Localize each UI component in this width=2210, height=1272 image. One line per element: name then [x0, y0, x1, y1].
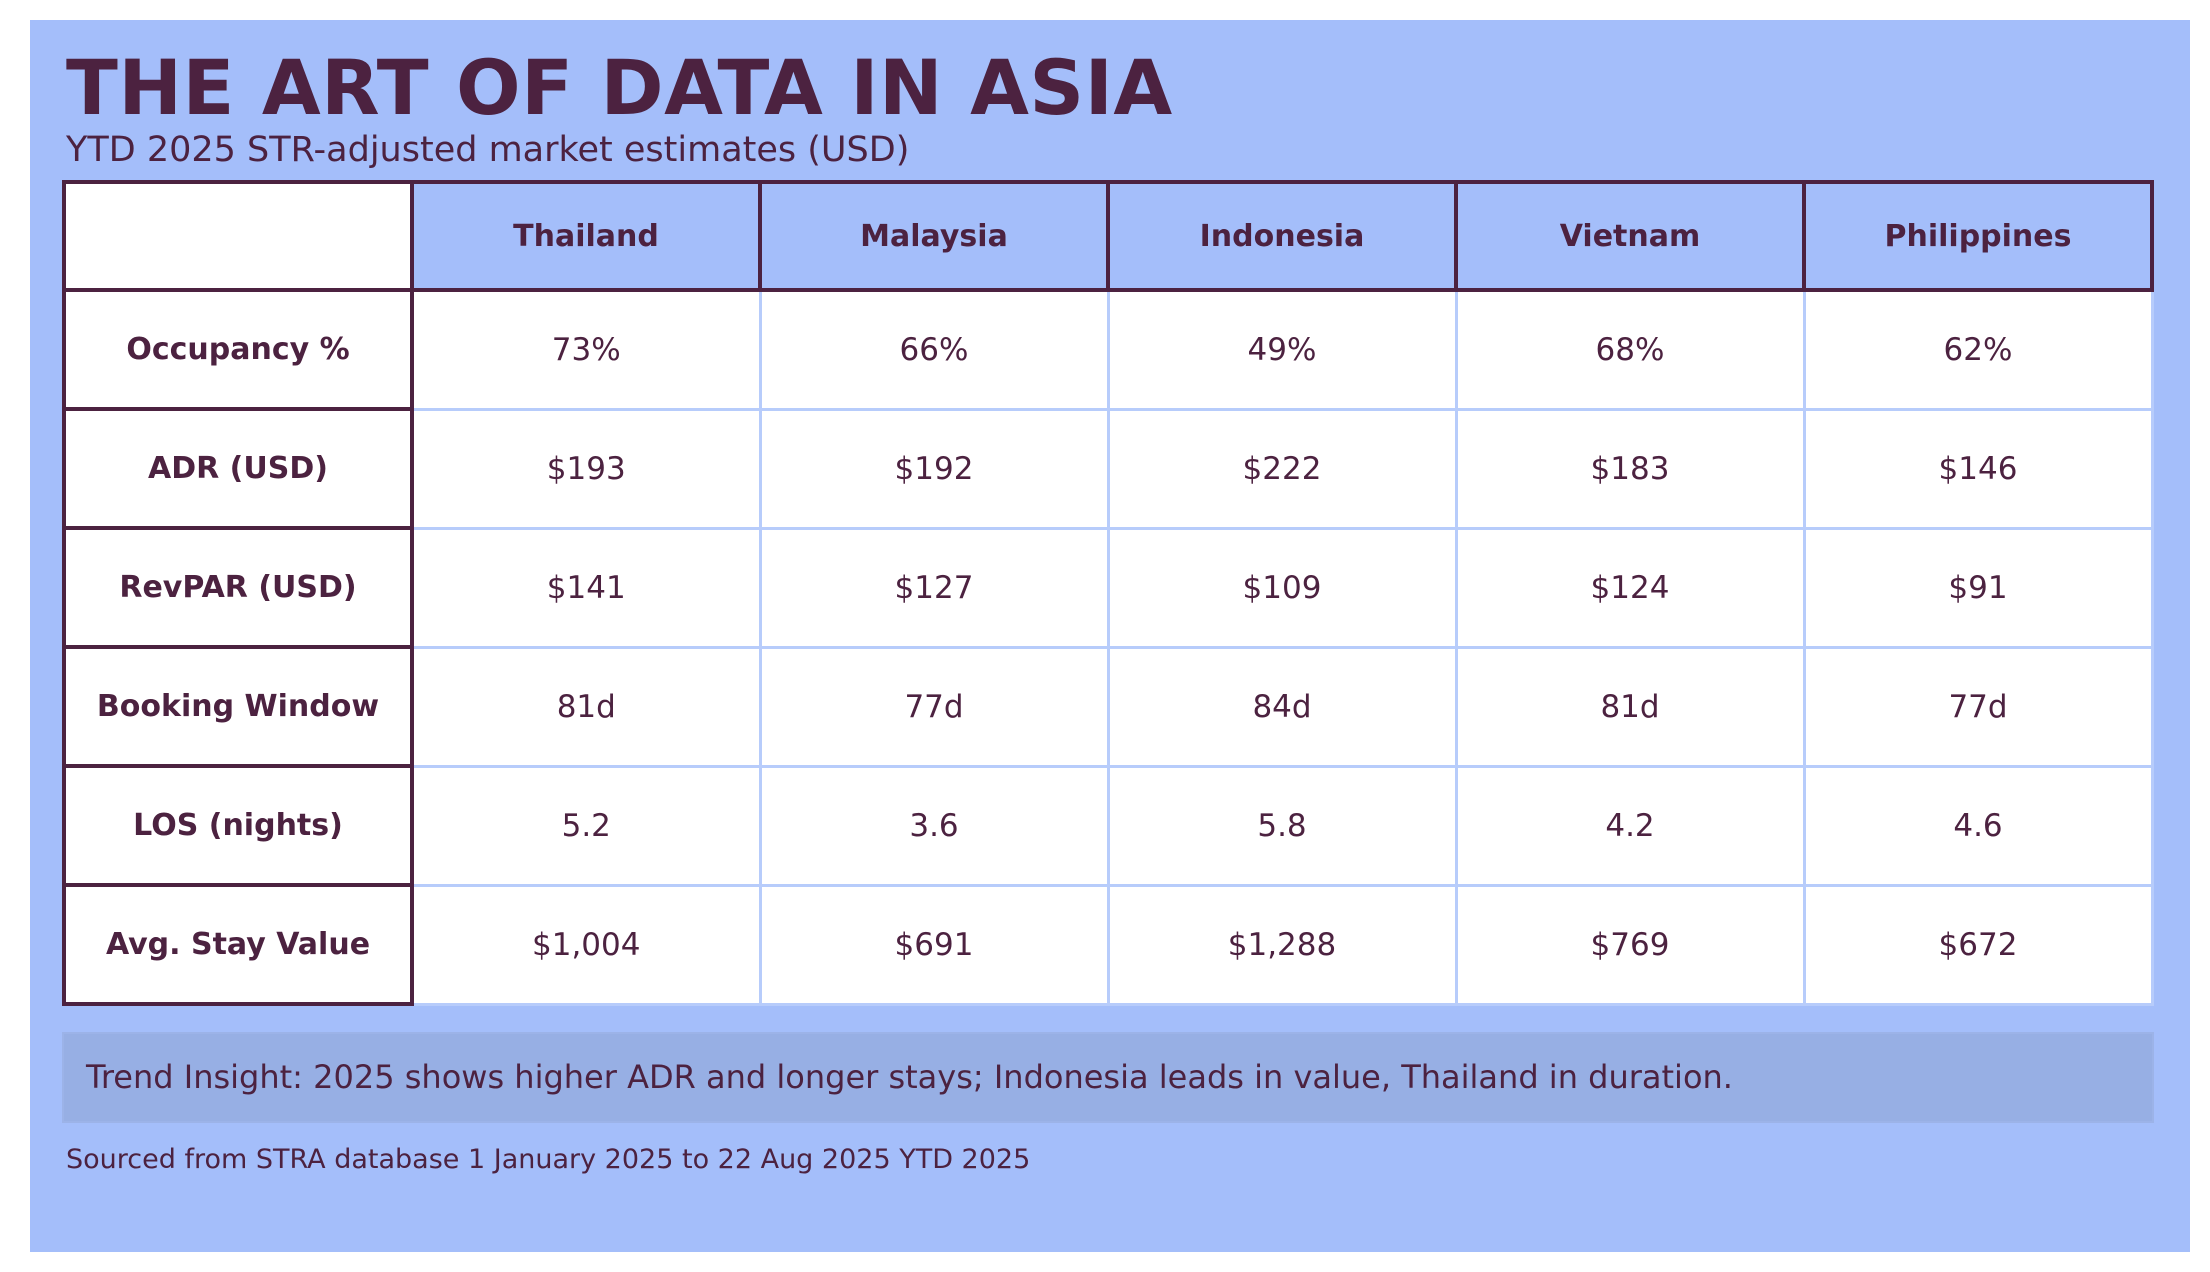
poster-canvas: THE ART OF DATA IN ASIA YTD 2025 STR-adj…: [30, 20, 2190, 1252]
row-label-adr: ADR (USD): [64, 409, 412, 528]
row-label-booking-window: Booking Window: [64, 647, 412, 766]
trend-insight-banner: Trend Insight: 2025 shows higher ADR and…: [62, 1032, 2154, 1123]
cell-avg-stay-value-philippines: $672: [1804, 885, 2152, 1004]
cell-occupancy-thailand: 73%: [412, 290, 760, 409]
cell-occupancy-philippines: 62%: [1804, 290, 2152, 409]
cell-occupancy-indonesia: 49%: [1108, 290, 1456, 409]
table-header: Thailand Malaysia Indonesia Vietnam Phil…: [64, 182, 2152, 290]
table-header-row: Thailand Malaysia Indonesia Vietnam Phil…: [64, 182, 2152, 290]
table-row: Occupancy % 73% 66% 49% 68% 62%: [64, 290, 2152, 409]
cell-los-vietnam: 4.2: [1456, 766, 1804, 885]
cell-booking-window-philippines: 77d: [1804, 647, 2152, 766]
cell-revpar-thailand: $141: [412, 528, 760, 647]
column-header-thailand[interactable]: Thailand: [412, 182, 760, 290]
cell-occupancy-vietnam: 68%: [1456, 290, 1804, 409]
cell-avg-stay-value-vietnam: $769: [1456, 885, 1804, 1004]
cell-booking-window-thailand: 81d: [412, 647, 760, 766]
cell-avg-stay-value-malaysia: $691: [760, 885, 1108, 1004]
cell-revpar-malaysia: $127: [760, 528, 1108, 647]
metrics-table: Thailand Malaysia Indonesia Vietnam Phil…: [62, 180, 2154, 1006]
cell-los-indonesia: 5.8: [1108, 766, 1456, 885]
cell-revpar-philippines: $91: [1804, 528, 2152, 647]
cell-booking-window-vietnam: 81d: [1456, 647, 1804, 766]
column-header-indonesia[interactable]: Indonesia: [1108, 182, 1456, 290]
poster-content: THE ART OF DATA IN ASIA YTD 2025 STR-adj…: [62, 50, 2158, 1230]
cell-avg-stay-value-indonesia: $1,288: [1108, 885, 1456, 1004]
row-label-avg-stay-value: Avg. Stay Value: [64, 885, 412, 1004]
cell-occupancy-malaysia: 66%: [760, 290, 1108, 409]
cell-booking-window-indonesia: 84d: [1108, 647, 1456, 766]
column-header-vietnam[interactable]: Vietnam: [1456, 182, 1804, 290]
cell-revpar-vietnam: $124: [1456, 528, 1804, 647]
cell-los-thailand: 5.2: [412, 766, 760, 885]
cell-los-malaysia: 3.6: [760, 766, 1108, 885]
cell-avg-stay-value-thailand: $1,004: [412, 885, 760, 1004]
column-header-philippines[interactable]: Philippines: [1804, 182, 2152, 290]
cell-los-philippines: 4.6: [1804, 766, 2152, 885]
source-note: Sourced from STRA database 1 January 202…: [66, 1145, 2158, 1175]
cell-adr-vietnam: $183: [1456, 409, 1804, 528]
cell-adr-malaysia: $192: [760, 409, 1108, 528]
cell-adr-philippines: $146: [1804, 409, 2152, 528]
cell-booking-window-malaysia: 77d: [760, 647, 1108, 766]
table-row: RevPAR (USD) $141 $127 $109 $124 $91: [64, 528, 2152, 647]
row-label-los: LOS (nights): [64, 766, 412, 885]
table-row: Booking Window 81d 77d 84d 81d 77d: [64, 647, 2152, 766]
row-label-occupancy: Occupancy %: [64, 290, 412, 409]
table-row: LOS (nights) 5.2 3.6 5.8 4.2 4.6: [64, 766, 2152, 885]
row-label-revpar: RevPAR (USD): [64, 528, 412, 647]
table-body: Occupancy % 73% 66% 49% 68% 62% ADR (USD…: [64, 290, 2152, 1004]
cell-adr-thailand: $193: [412, 409, 760, 528]
table-row: Avg. Stay Value $1,004 $691 $1,288 $769 …: [64, 885, 2152, 1004]
table-corner-cell: [64, 182, 412, 290]
column-header-malaysia[interactable]: Malaysia: [760, 182, 1108, 290]
page-subtitle: YTD 2025 STR-adjusted market estimates (…: [66, 130, 2158, 170]
page-title: THE ART OF DATA IN ASIA: [66, 50, 2158, 126]
cell-revpar-indonesia: $109: [1108, 528, 1456, 647]
table-row: ADR (USD) $193 $192 $222 $183 $146: [64, 409, 2152, 528]
cell-adr-indonesia: $222: [1108, 409, 1456, 528]
